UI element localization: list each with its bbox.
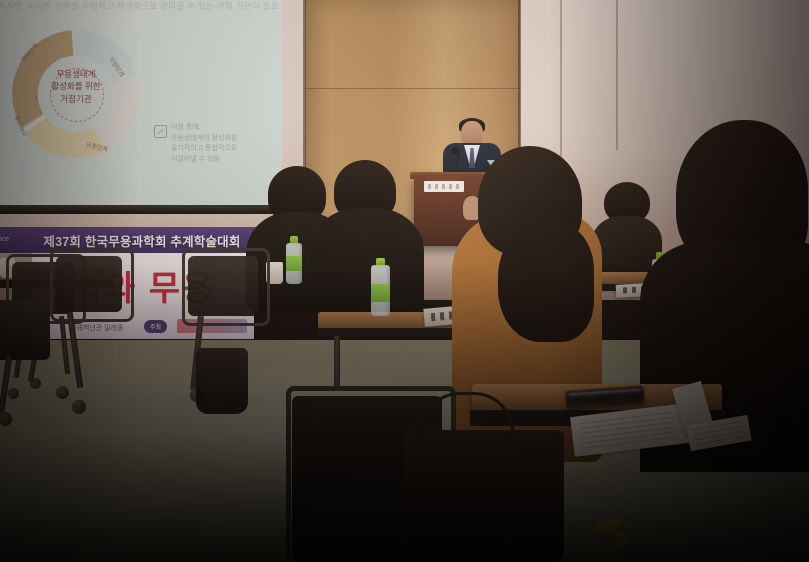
- donut-center-line-3: 거점기관: [22, 93, 130, 105]
- bottle-cap: [376, 258, 386, 265]
- desk-middle-leg-left: [334, 336, 340, 388]
- screen-bottom-frame: [0, 205, 282, 214]
- handbag-foreground: [404, 430, 564, 562]
- slide-note-text: 이를 통해, 무용생태계의 활성화를 유기적이고 통합적으로 이끌어낼 수 있음: [171, 123, 276, 165]
- banner-venue-text: 미래백년관 밀레홀: [70, 323, 123, 333]
- attendee-center-left-body: [310, 208, 424, 312]
- water-bottle-middle: [371, 258, 390, 316]
- banner-side-text: ence: [0, 236, 9, 243]
- microphone-head: [452, 147, 459, 155]
- note-line-1: 이를 통해,: [171, 123, 276, 134]
- note-line-3: 유기적이고 통합적으로: [171, 144, 276, 155]
- donut-center-line-2: 활성화를 위한: [22, 80, 130, 92]
- handout-text-lines-2: [692, 421, 744, 446]
- podium-logo-plate: [424, 181, 464, 192]
- chair-caster-4: [72, 400, 86, 414]
- bottle-cap: [290, 236, 298, 243]
- note-line-4: 이끌어낼 수 있음: [171, 155, 276, 166]
- chair-caster-3: [56, 386, 69, 399]
- projection-screen: 하지만, 이러한 전략을 수립하고 체계적으로 관리할 수 있는 거점 기관이 …: [0, 0, 282, 210]
- slide-top-line: 하지만, 이러한 전략을 수립하고 체계적으로 관리할 수 있는 거점 기관이 …: [0, 0, 278, 12]
- water-bottle-left: [286, 236, 302, 284]
- floor-bag: [196, 348, 248, 414]
- note-line-2: 무용생태계의 활성화를: [171, 134, 276, 145]
- chair-left-seat-2: [56, 256, 122, 312]
- handout-text-lines: [580, 412, 675, 449]
- wall-seam-corner: [616, 0, 618, 150]
- handbag-ring: [616, 532, 626, 548]
- bottle-label: [286, 256, 302, 271]
- bottle-label: [371, 284, 390, 302]
- banner-host-badge: 주최: [144, 320, 167, 333]
- chair-caster-1: [8, 388, 19, 399]
- conference-photo: 하지만, 이러한 전략을 수립하고 체계적으로 관리할 수 있는 거점 기관이 …: [0, 0, 809, 562]
- chair-lower-left: [0, 300, 50, 360]
- chair-center-seat: [188, 256, 258, 316]
- pencil-square-icon: [154, 125, 167, 138]
- donut-center-text: 무용생태계 활성화를 위한 거점기관: [22, 68, 130, 105]
- attendee-camel-coat-hair-lower: [498, 222, 594, 342]
- pen-case-highlight: [569, 389, 641, 398]
